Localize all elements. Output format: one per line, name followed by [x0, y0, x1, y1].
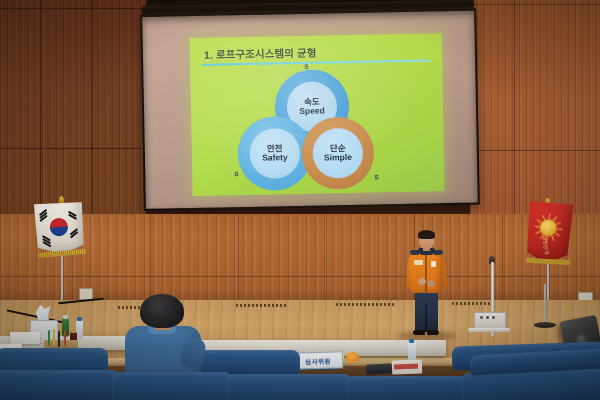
venn-label-speed-english: Speed: [299, 106, 325, 116]
seat-front-center: [226, 374, 352, 400]
organization-flag-cloth: 대한민국: [526, 201, 573, 265]
floor-microphone-base: [534, 322, 556, 328]
judge-nameplate-text: 심사위원: [305, 355, 331, 366]
seat-front-left: [0, 370, 120, 400]
seat-front-center-right: [346, 376, 476, 400]
venn-circle-simple-inner: 단순 Simple: [312, 128, 363, 179]
seated-attendee: [122, 294, 204, 374]
presenter-hand-left: [418, 278, 426, 285]
slide-title: 1. 로프구조시스템의 균형: [204, 46, 317, 63]
tangerine: [346, 352, 359, 363]
attendee-head: [140, 294, 184, 328]
organization-flag-fringe: [526, 258, 570, 265]
presenter-hand-right: [427, 280, 435, 287]
seat-front-center-left: [112, 372, 232, 400]
venn-marker-safety: S: [234, 171, 238, 178]
presenter-shoulder-patch: [431, 261, 436, 267]
venn-marker-simple: S: [374, 174, 378, 181]
documents-left: [10, 332, 40, 344]
venn-label-simple-english: Simple: [324, 153, 352, 163]
lecture-hall-photo: 1. 로프구조시스템의 균형 속도 Speed S 안전 Safety: [0, 0, 600, 400]
presentation-slide: 1. 로프구조시스템의 균형 속도 Speed S 안전 Safety: [190, 33, 445, 196]
venn-label-safety-english: Safety: [262, 153, 288, 163]
presenter-name-patch: [414, 260, 423, 265]
water-bottle-clear: [76, 320, 83, 339]
pen-red: [64, 330, 66, 346]
judge-nameplate: 심사위원: [293, 351, 343, 369]
floor-vent-right: [336, 303, 394, 306]
floor-vent-far-right: [452, 302, 492, 305]
smartphone: [366, 363, 392, 374]
venn-marker-speed: S: [304, 64, 308, 71]
pen-green: [48, 330, 50, 346]
pen-yellow: [53, 329, 55, 345]
venn-circle-safety-inner: 안전 Safety: [249, 128, 300, 179]
presenter-hair: [418, 230, 435, 239]
screen-surface: 1. 로프구조시스템의 균형 속도 Speed S 안전 Safety: [140, 9, 480, 211]
korean-flag-cloth: [34, 200, 86, 256]
presenter-figure: [404, 230, 448, 336]
floor-vent-center: [236, 304, 288, 307]
venn-circle-simple: 단순 Simple: [301, 117, 374, 190]
presenter-shoe-right: [427, 330, 439, 335]
presenter-shoe-left: [413, 330, 425, 335]
equipment-stand-foot: [468, 328, 510, 332]
documents-right: [392, 359, 422, 374]
projection-screen: 1. 로프구조시스템의 균형 속도 Speed S 안전 Safety: [140, 0, 480, 216]
venn-diagram: 속도 Speed S 안전 Safety S 단순: [190, 61, 444, 196]
organization-flag-field: 대한민국: [526, 201, 573, 265]
floor-microphone-stand: [544, 284, 546, 324]
pen-black: [58, 331, 60, 347]
